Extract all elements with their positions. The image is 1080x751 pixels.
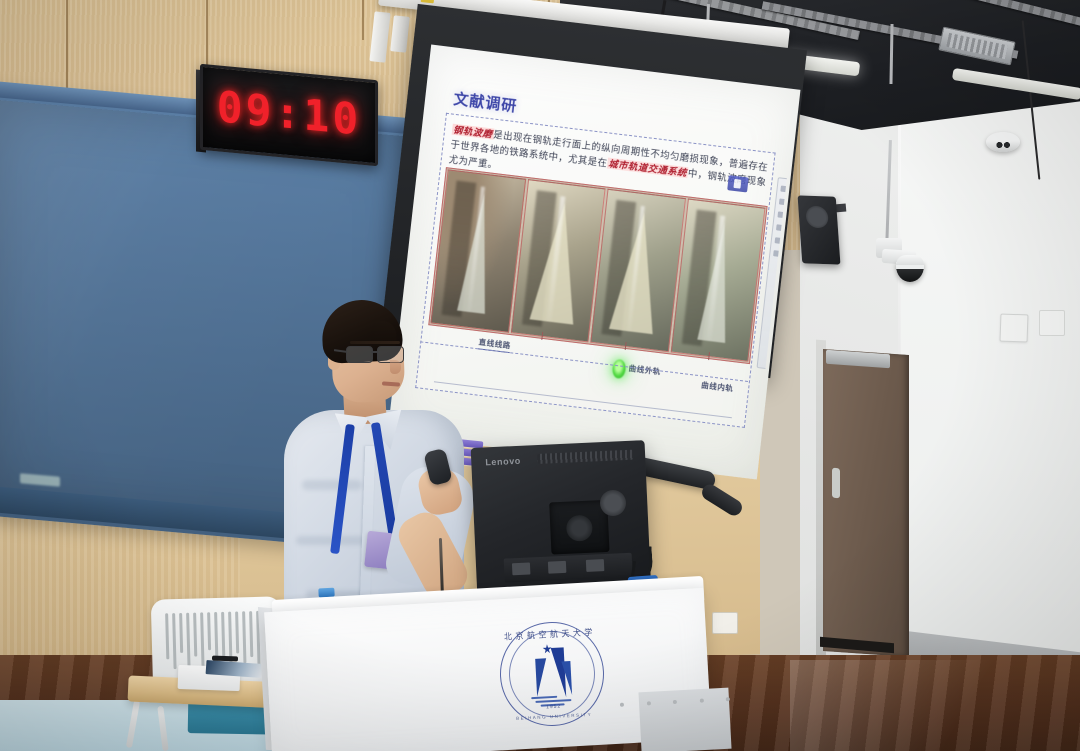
slide-keyword-primary: 钢轨波磨 <box>452 124 494 140</box>
white-wall-far <box>900 60 1080 680</box>
floor-reflection <box>790 660 1080 751</box>
presenter-nose <box>390 360 401 374</box>
wall-panel-seam <box>362 0 364 40</box>
clock-time-display: 09:10 <box>217 82 361 145</box>
slide-title: 文献调研 <box>453 88 519 117</box>
rail-photo <box>510 179 605 342</box>
classroom-scene: 09:10 文献调研 钢轨波磨是出现在钢轨走行面上的纵向周期性不均匀磨损现象，普… <box>0 0 1080 751</box>
wall-socket[interactable] <box>1000 314 1029 343</box>
pen <box>212 656 238 662</box>
wall-speaker <box>798 195 841 264</box>
office-badge-icon <box>727 175 749 192</box>
university-seal-logo: 北京航空航天大学 1952 BEIHANG UNIVERSITY <box>497 619 606 728</box>
presenter-eyebrow <box>350 341 400 344</box>
monitor-arm-joint <box>600 490 626 516</box>
logo-sail-mark <box>533 647 570 701</box>
monitor-vent <box>537 450 633 464</box>
classroom-door[interactable] <box>823 349 909 657</box>
ceiling-security-camera <box>986 132 1020 152</box>
door-handle[interactable] <box>832 468 840 499</box>
wall-led-clock: 09:10 <box>200 64 378 167</box>
wall-socket[interactable] <box>712 612 738 634</box>
monitor-brand-label: Lenovo <box>485 456 521 468</box>
rail-photo <box>670 198 765 361</box>
wall-access-plate <box>1039 310 1065 336</box>
rail-photo <box>590 189 685 352</box>
